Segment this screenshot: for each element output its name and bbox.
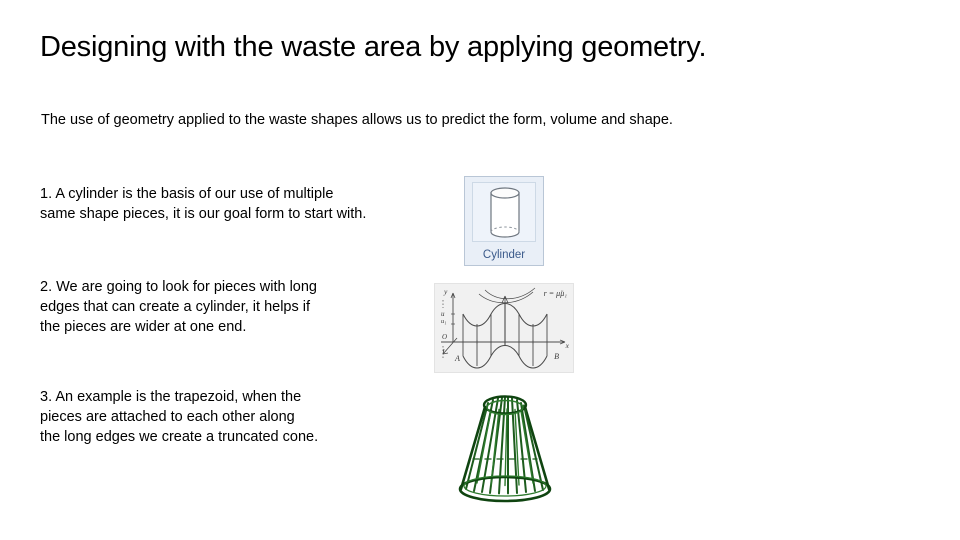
truncated-cone-drawing [449, 385, 561, 503]
cylinder-icon-tile: Cylinder [464, 176, 544, 266]
bullet-item-2: 2. We are going to look for pieces with … [40, 277, 440, 337]
bullet-item-1: 1. A cylinder is the basis of our use of… [40, 184, 440, 224]
bullet-item-3: 3. An example is the trapezoid, when the… [40, 387, 440, 447]
math-diagram-drawing [435, 284, 574, 373]
math-diagram-figure: r = μ̈μ₁ A B x y O u u₁ [434, 283, 574, 373]
cylinder-icon-label: Cylinder [465, 249, 543, 261]
slide-canvas: Designing with the waste area by applyin… [0, 0, 960, 540]
slide-subtitle: The use of geometry applied to the waste… [41, 110, 921, 130]
truncated-cone-figure [449, 385, 561, 503]
page-title: Designing with the waste area by applyin… [40, 28, 920, 66]
